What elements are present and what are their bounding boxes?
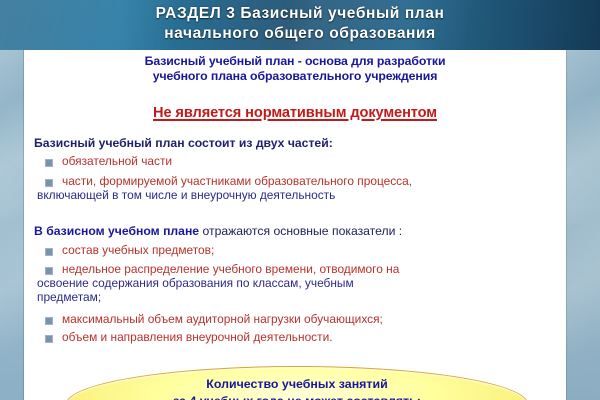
subtitle-line-2: учебного плана образовательного учрежден… <box>24 69 566 84</box>
list-item-line-1: обязательной части <box>62 154 172 168</box>
list-item-line-2: освоение содержания образования по класс… <box>37 276 566 290</box>
list-item: недельное распределение учебного времени… <box>24 262 566 304</box>
bullet-square-icon <box>45 159 53 167</box>
callout-line-1: Количество учебных занятий <box>67 377 527 391</box>
list-item-line-2: включающей в том числе и внеурочную деят… <box>37 188 566 202</box>
list-item: части, формируемой участниками образоват… <box>24 174 566 202</box>
callout-ellipse: Количество учебных занятий за 4 учебных … <box>66 366 528 400</box>
section2-bullet-list: состав учебных предметов; недельное расп… <box>24 243 566 345</box>
list-item-line-1: максимальный объем аудиторной нагрузки о… <box>62 312 383 326</box>
section1-bullet-list: обязательной части части, формируемой уч… <box>24 154 566 203</box>
list-item-line-1: части, формируемой участниками образоват… <box>62 174 412 188</box>
section1-lead-text: Базисный учебный план состоит из двух ча… <box>34 136 333 150</box>
list-item-line-1: объем и направления внеурочной деятельно… <box>62 330 333 344</box>
bullet-square-icon <box>45 335 53 343</box>
bullet-square-icon <box>45 248 53 256</box>
header-title-line-1: РАЗДЕЛ 3 Базисный учебный план <box>0 0 600 22</box>
section2-lead-bold: В базисном учебном плане <box>34 224 199 238</box>
section2-lead-rest: отражаются основные показатели : <box>199 224 402 238</box>
callout-line-2: за 4 учебных года не может составлять: <box>67 394 527 400</box>
right-texture-band <box>566 50 600 400</box>
slide-header: РАЗДЕЛ 3 Базисный учебный план начальног… <box>0 0 600 52</box>
header-title-line-2: начального общего образования <box>0 22 600 42</box>
bullet-square-icon <box>45 267 53 275</box>
left-texture-band <box>0 50 24 400</box>
subtitle-line-1: Базисный учебный план - основа для разра… <box>24 54 566 69</box>
list-item-line-1: состав учебных предметов; <box>62 243 214 257</box>
red-heading: Не является нормативным документом <box>24 105 566 121</box>
subtitle-block: Базисный учебный план - основа для разра… <box>24 54 566 84</box>
list-item: обязательной части <box>24 154 566 168</box>
list-item: объем и направления внеурочной деятельно… <box>24 330 566 344</box>
list-item: состав учебных предметов; <box>24 243 566 257</box>
list-item-line-1: недельное распределение учебного времени… <box>62 262 399 276</box>
bullet-square-icon <box>45 317 53 325</box>
section2-lead: В базисном учебном плане отражаются осно… <box>24 224 566 239</box>
slide-content-card: Базисный учебный план - основа для разра… <box>24 50 566 400</box>
list-item: максимальный объем аудиторной нагрузки о… <box>24 312 566 326</box>
bullet-square-icon <box>45 179 53 187</box>
list-item-line-3: предметам; <box>37 290 566 304</box>
presentation-slide: РАЗДЕЛ 3 Базисный учебный план начальног… <box>0 0 600 400</box>
section1-lead: Базисный учебный план состоит из двух ча… <box>24 136 566 151</box>
